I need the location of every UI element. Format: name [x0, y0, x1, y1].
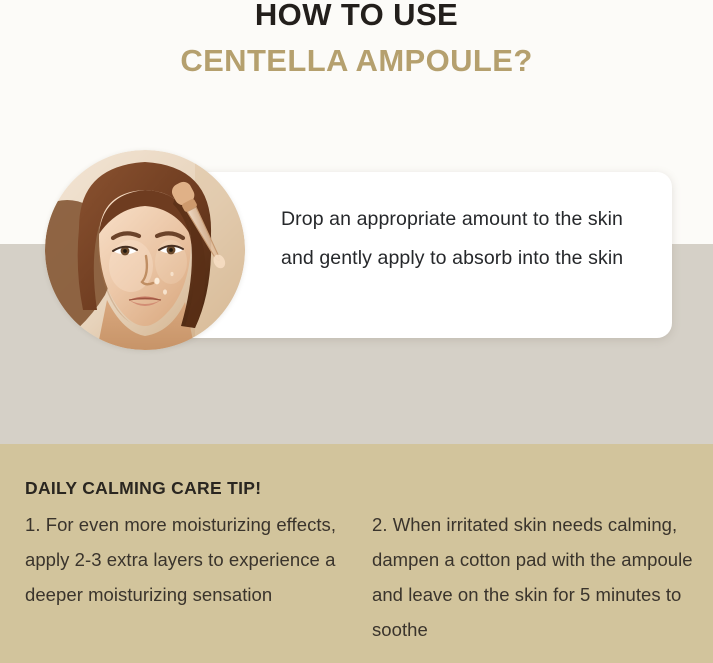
page-title-secondary: CENTELLA AMPOULE? — [0, 42, 713, 80]
portrait-illustration — [45, 150, 245, 350]
page-title-block: HOW TO USE CENTELLA AMPOULE? — [0, 0, 713, 80]
instruction-text: Drop an appropriate amount to the skin a… — [281, 200, 651, 278]
tip-item-1: 1. For even more moisturizing effects, a… — [25, 507, 345, 612]
portrait-photo — [45, 150, 245, 350]
tip-item-2: 2. When irritated skin needs calming, da… — [372, 507, 702, 647]
how-to-use-infographic: HOW TO USE CENTELLA AMPOULE? Drop an app… — [0, 0, 713, 663]
daily-tip-section: DAILY CALMING CARE TIP! 1. For even more… — [0, 444, 713, 663]
tip-section-title: DAILY CALMING CARE TIP! — [25, 478, 261, 499]
page-title-primary: HOW TO USE — [0, 0, 713, 34]
